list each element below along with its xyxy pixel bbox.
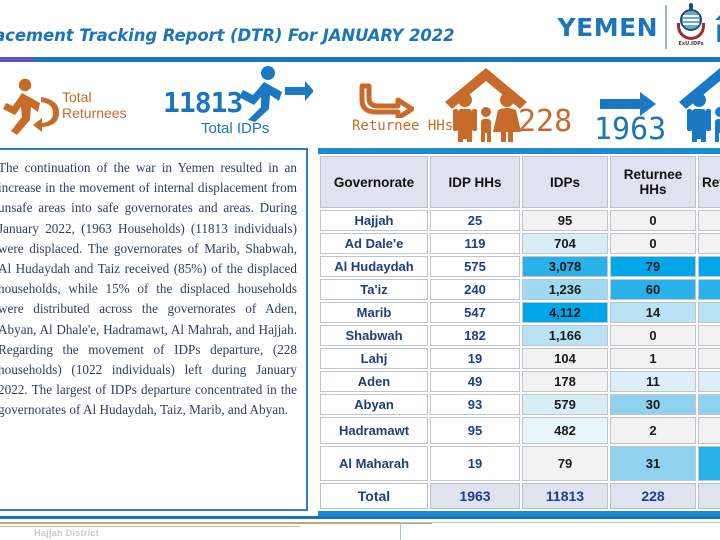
cell-idp-hhs: 19 <box>430 348 520 369</box>
cell-returnee-hhs: 11 <box>610 371 696 392</box>
cell-idps: 482 <box>522 417 608 444</box>
cell-idp-hhs: 19 <box>430 446 520 481</box>
running-person-arrow-icon <box>235 64 313 127</box>
cell-governorate: Al Hudaydah <box>320 256 428 277</box>
cell-idps: 79 <box>522 446 608 481</box>
total-returnees-label-line1: Total <box>62 89 92 105</box>
cell-returnee-hhs: 0 <box>610 210 696 231</box>
total-returnees-label-line2: Returnees <box>62 105 127 121</box>
stat-returnee-hhs: Returnee HHs <box>352 66 562 146</box>
brand-lockup: YEMEN ExU.IDPs EX <box>558 2 720 52</box>
stat-total-returnees: 1022 Total Returnees <box>0 68 156 146</box>
cell-idps: 95 <box>522 210 608 231</box>
table-row[interactable]: Abyan 93 579 30 <box>320 394 720 415</box>
table-row[interactable]: Ta'iz 240 1,236 60 <box>320 279 720 300</box>
table-row[interactable]: Hadramawt 95 482 2 <box>320 417 720 444</box>
table-row[interactable]: Hajjah 25 95 0 <box>320 210 720 231</box>
footer-pane-top-rule <box>400 522 720 523</box>
page-header: Displacement Tracking Report (DTR) For J… <box>0 0 720 57</box>
cell-returnees <box>698 348 720 369</box>
page-title: Displacement Tracking Report (DTR) For J… <box>0 26 454 45</box>
table-row[interactable]: Al Maharah 19 79 31 <box>320 446 720 481</box>
idp-hhs-value: 1963 <box>594 112 666 147</box>
governorate-statistics-table: Governorate IDP HHs IDPs Returnee HHs Re… <box>318 154 720 511</box>
cell-returnee-hhs: 79 <box>610 256 696 277</box>
cell-idp-hhs: 93 <box>430 394 520 415</box>
returnee-hhs-value: 228 <box>518 104 572 139</box>
footer-divider-band: Hajjah District <box>0 516 720 540</box>
footer-tan-rule <box>0 522 432 524</box>
cell-governorate: Marib <box>320 302 428 323</box>
cell-returnee-hhs: 31 <box>610 446 696 481</box>
cell-governorate: Shabwah <box>320 325 428 346</box>
family-house-blue-icon <box>672 66 720 147</box>
cell-returnees <box>698 279 720 300</box>
cell-governorate: Hadramawt <box>320 417 428 444</box>
cell-idps: 1,236 <box>522 279 608 300</box>
cell-idps: 104 <box>522 348 608 369</box>
cell-idp-hhs: 240 <box>430 279 520 300</box>
cell-returnee-hhs: 60 <box>610 279 696 300</box>
emblem-wreath-shape <box>677 23 705 40</box>
summary-infographic-strip: 1022 Total Returnees 11813 Total IDPs Re… <box>0 62 720 146</box>
footer-blue-rule <box>0 516 720 519</box>
total-returnees-label: Total Returnees <box>62 90 127 121</box>
emblem-caption: ExU.IDPs <box>674 41 708 47</box>
brand-divider <box>665 5 667 49</box>
cell-idp-hhs: 49 <box>430 371 520 392</box>
cell-returnee-hhs: 1 <box>610 348 696 369</box>
stat-idp-hhs: 1963 <box>588 66 720 146</box>
cell-idps: 1,166 <box>522 325 608 346</box>
footer-caption: Hajjah District <box>34 528 99 538</box>
cell-governorate: Al Maharah <box>320 446 428 481</box>
table-row[interactable]: Lahj 19 104 1 <box>320 348 720 369</box>
table-header-row: Governorate IDP HHs IDPs Returnee HHs Re… <box>320 156 720 208</box>
cell-returnees <box>698 446 720 481</box>
cell-idps: 3,078 <box>522 256 608 277</box>
table-row[interactable]: Aden 49 178 11 <box>320 371 720 392</box>
return-arrow-icon <box>358 82 414 123</box>
cell-returnees <box>698 302 720 323</box>
cell-returnees <box>698 325 720 346</box>
table-header: Governorate IDP HHs IDPs Returnee HHs Re… <box>320 156 720 208</box>
cell-returnee-hhs: 0 <box>610 233 696 254</box>
cell-idps: 704 <box>522 233 608 254</box>
table-total-row[interactable]: Total 1963 11813 228 <box>320 483 720 509</box>
cell-total-label: Total <box>320 483 428 509</box>
narrative-panel: The continuation of the war in Yemen res… <box>0 148 308 511</box>
cell-governorate: Abyan <box>320 394 428 415</box>
family-house-orange-icon <box>442 66 530 147</box>
cell-returnees <box>698 256 720 277</box>
col-header-returnees[interactable]: Returnees <box>698 156 720 208</box>
table-row[interactable]: Al Hudaydah 575 3,078 79 <box>320 256 720 277</box>
cell-governorate: Lahj <box>320 348 428 369</box>
cell-idp-hhs: 95 <box>430 417 520 444</box>
cell-returnees <box>698 417 720 444</box>
table-row[interactable]: Shabwah 182 1,166 0 <box>320 325 720 346</box>
cell-idp-hhs: 119 <box>430 233 520 254</box>
cell-total-idps: 11813 <box>522 483 608 509</box>
cell-returnee-hhs: 30 <box>610 394 696 415</box>
cell-idp-hhs: 575 <box>430 256 520 277</box>
cell-returnee-hhs: 2 <box>610 417 696 444</box>
governorate-statistics-table-panel: Governorate IDP HHs IDPs Returnee HHs Re… <box>318 148 720 516</box>
cell-returnee-hhs: 14 <box>610 302 696 323</box>
col-header-returnee-hhs[interactable]: Returnee HHs <box>610 156 696 208</box>
cell-returnees <box>698 233 720 254</box>
cell-idp-hhs: 547 <box>430 302 520 323</box>
brand-country-label: YEMEN <box>558 15 659 40</box>
total-idps-label: Total IDPs <box>201 120 269 137</box>
cell-governorate: Hajjah <box>320 210 428 231</box>
narrative-body: The continuation of the war in Yemen res… <box>0 150 306 421</box>
table-row[interactable]: Ad Dale'e 119 704 0 <box>320 233 720 254</box>
total-idps-value: 11813 <box>163 86 242 119</box>
cell-idps: 4,112 <box>522 302 608 323</box>
brand-org-label: EX <box>715 6 720 48</box>
stat-total-idps: 11813 Total IDPs <box>163 64 333 146</box>
footer-tan-rule-secondary <box>0 526 300 527</box>
cell-idps: 178 <box>522 371 608 392</box>
cell-total-returnees <box>698 483 720 509</box>
table-body: Hajjah 25 95 0 Ad Dale'e 119 704 0 Al Hu… <box>320 210 720 509</box>
cell-idp-hhs: 25 <box>430 210 520 231</box>
col-header-idps[interactable]: IDPs <box>522 156 608 208</box>
cell-returnees <box>698 371 720 392</box>
cell-total-idp-hhs: 1963 <box>430 483 520 509</box>
col-header-governorate[interactable]: Governorate <box>320 156 428 208</box>
yemen-emblem-icon: ExU.IDPs <box>674 3 708 51</box>
running-person-return-icon <box>0 76 62 143</box>
table-row[interactable]: Marib 547 4,112 14 <box>320 302 720 323</box>
cell-returnees <box>698 394 720 415</box>
cell-idps: 579 <box>522 394 608 415</box>
col-header-idp-hhs[interactable]: IDP HHs <box>430 156 520 208</box>
cell-governorate: Ad Dale'e <box>320 233 428 254</box>
house-roof-icon <box>715 2 720 20</box>
footer-pane-divider <box>400 522 401 540</box>
cell-returnee-hhs: 0 <box>610 325 696 346</box>
cell-governorate: Aden <box>320 371 428 392</box>
cell-idp-hhs: 182 <box>430 325 520 346</box>
cell-total-returnee-hhs: 228 <box>610 483 696 509</box>
cell-governorate: Ta'iz <box>320 279 428 300</box>
cell-returnees <box>698 210 720 231</box>
